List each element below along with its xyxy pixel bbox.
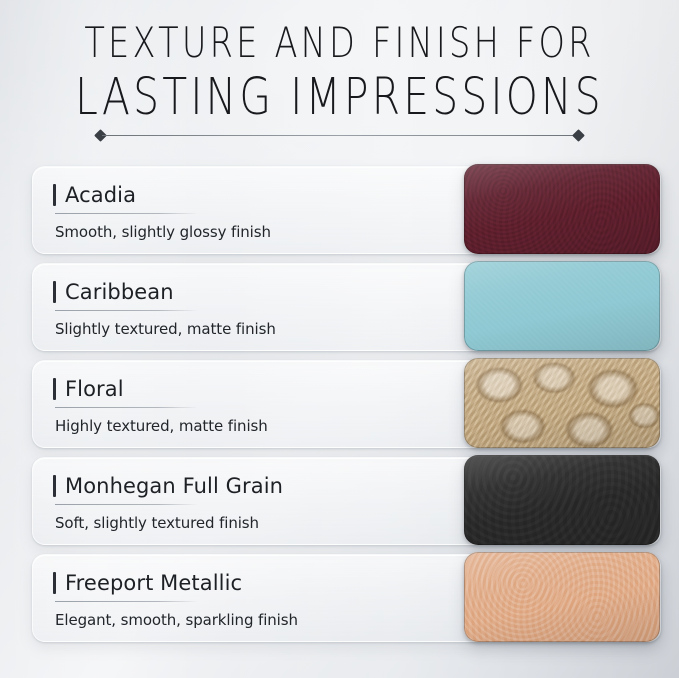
finish-name: Caribbean (65, 280, 174, 304)
finish-swatch[interactable] (464, 455, 660, 545)
finish-description: Slightly textured, matte finish (55, 320, 453, 338)
finish-row: Freeport MetallicElegant, smooth, sparkl… (0, 550, 679, 647)
finish-swatch[interactable] (464, 358, 660, 448)
finish-list: AcadiaSmooth, slightly glossy finishCari… (0, 162, 679, 647)
finish-name-row: Monhegan Full Grain (53, 473, 453, 499)
finish-card-text: Monhegan Full GrainSoft, slightly textur… (53, 473, 453, 532)
finish-description: Elegant, smooth, sparkling finish (55, 611, 453, 629)
page-title-line-1: TEXTURE AND FINISH FOR (68, 22, 611, 64)
finish-row: AcadiaSmooth, slightly glossy finish (0, 162, 679, 259)
page-title-line-2: LASTING IMPRESSIONS (68, 72, 611, 123)
accent-bar-icon (53, 281, 56, 303)
finish-name-row: Acadia (53, 182, 453, 208)
finish-card-text: CaribbeanSlightly textured, matte finish (53, 279, 453, 338)
finish-row: Monhegan Full GrainSoft, slightly textur… (0, 453, 679, 550)
finish-name: Floral (65, 377, 124, 401)
finish-swatch[interactable] (464, 261, 660, 351)
title-divider (96, 131, 583, 140)
swatch-edge (464, 552, 660, 642)
accent-bar-icon (53, 184, 56, 206)
divider-rule (102, 135, 577, 136)
finish-card-text: Freeport MetallicElegant, smooth, sparkl… (53, 570, 453, 629)
header: TEXTURE AND FINISH FOR LASTING IMPRESSIO… (0, 22, 679, 123)
swatch-edge (464, 164, 660, 254)
finish-name-underline (55, 407, 198, 408)
finish-description: Smooth, slightly glossy finish (55, 223, 453, 241)
finish-swatch[interactable] (464, 552, 660, 642)
finish-description: Highly textured, matte finish (55, 417, 453, 435)
swatch-edge (464, 261, 660, 351)
finish-name-underline (55, 504, 198, 505)
finish-card-text: AcadiaSmooth, slightly glossy finish (53, 182, 453, 241)
finish-name-underline (55, 213, 198, 214)
accent-bar-icon (53, 572, 56, 594)
finish-description: Soft, slightly textured finish (55, 514, 453, 532)
finish-name-row: Floral (53, 376, 453, 402)
finish-name: Monhegan Full Grain (65, 474, 283, 498)
finish-name: Freeport Metallic (65, 571, 242, 595)
finish-name-row: Caribbean (53, 279, 453, 305)
finish-swatch[interactable] (464, 164, 660, 254)
swatch-edge (464, 455, 660, 545)
finish-name-underline (55, 601, 198, 602)
finish-name-underline (55, 310, 198, 311)
finish-name-row: Freeport Metallic (53, 570, 453, 596)
accent-bar-icon (53, 378, 56, 400)
accent-bar-icon (53, 475, 56, 497)
finish-card-text: FloralHighly textured, matte finish (53, 376, 453, 435)
swatch-edge (464, 358, 660, 448)
finish-name: Acadia (65, 183, 136, 207)
diamond-right-icon (572, 129, 585, 142)
finish-row: FloralHighly textured, matte finish (0, 356, 679, 453)
finish-row: CaribbeanSlightly textured, matte finish (0, 259, 679, 356)
